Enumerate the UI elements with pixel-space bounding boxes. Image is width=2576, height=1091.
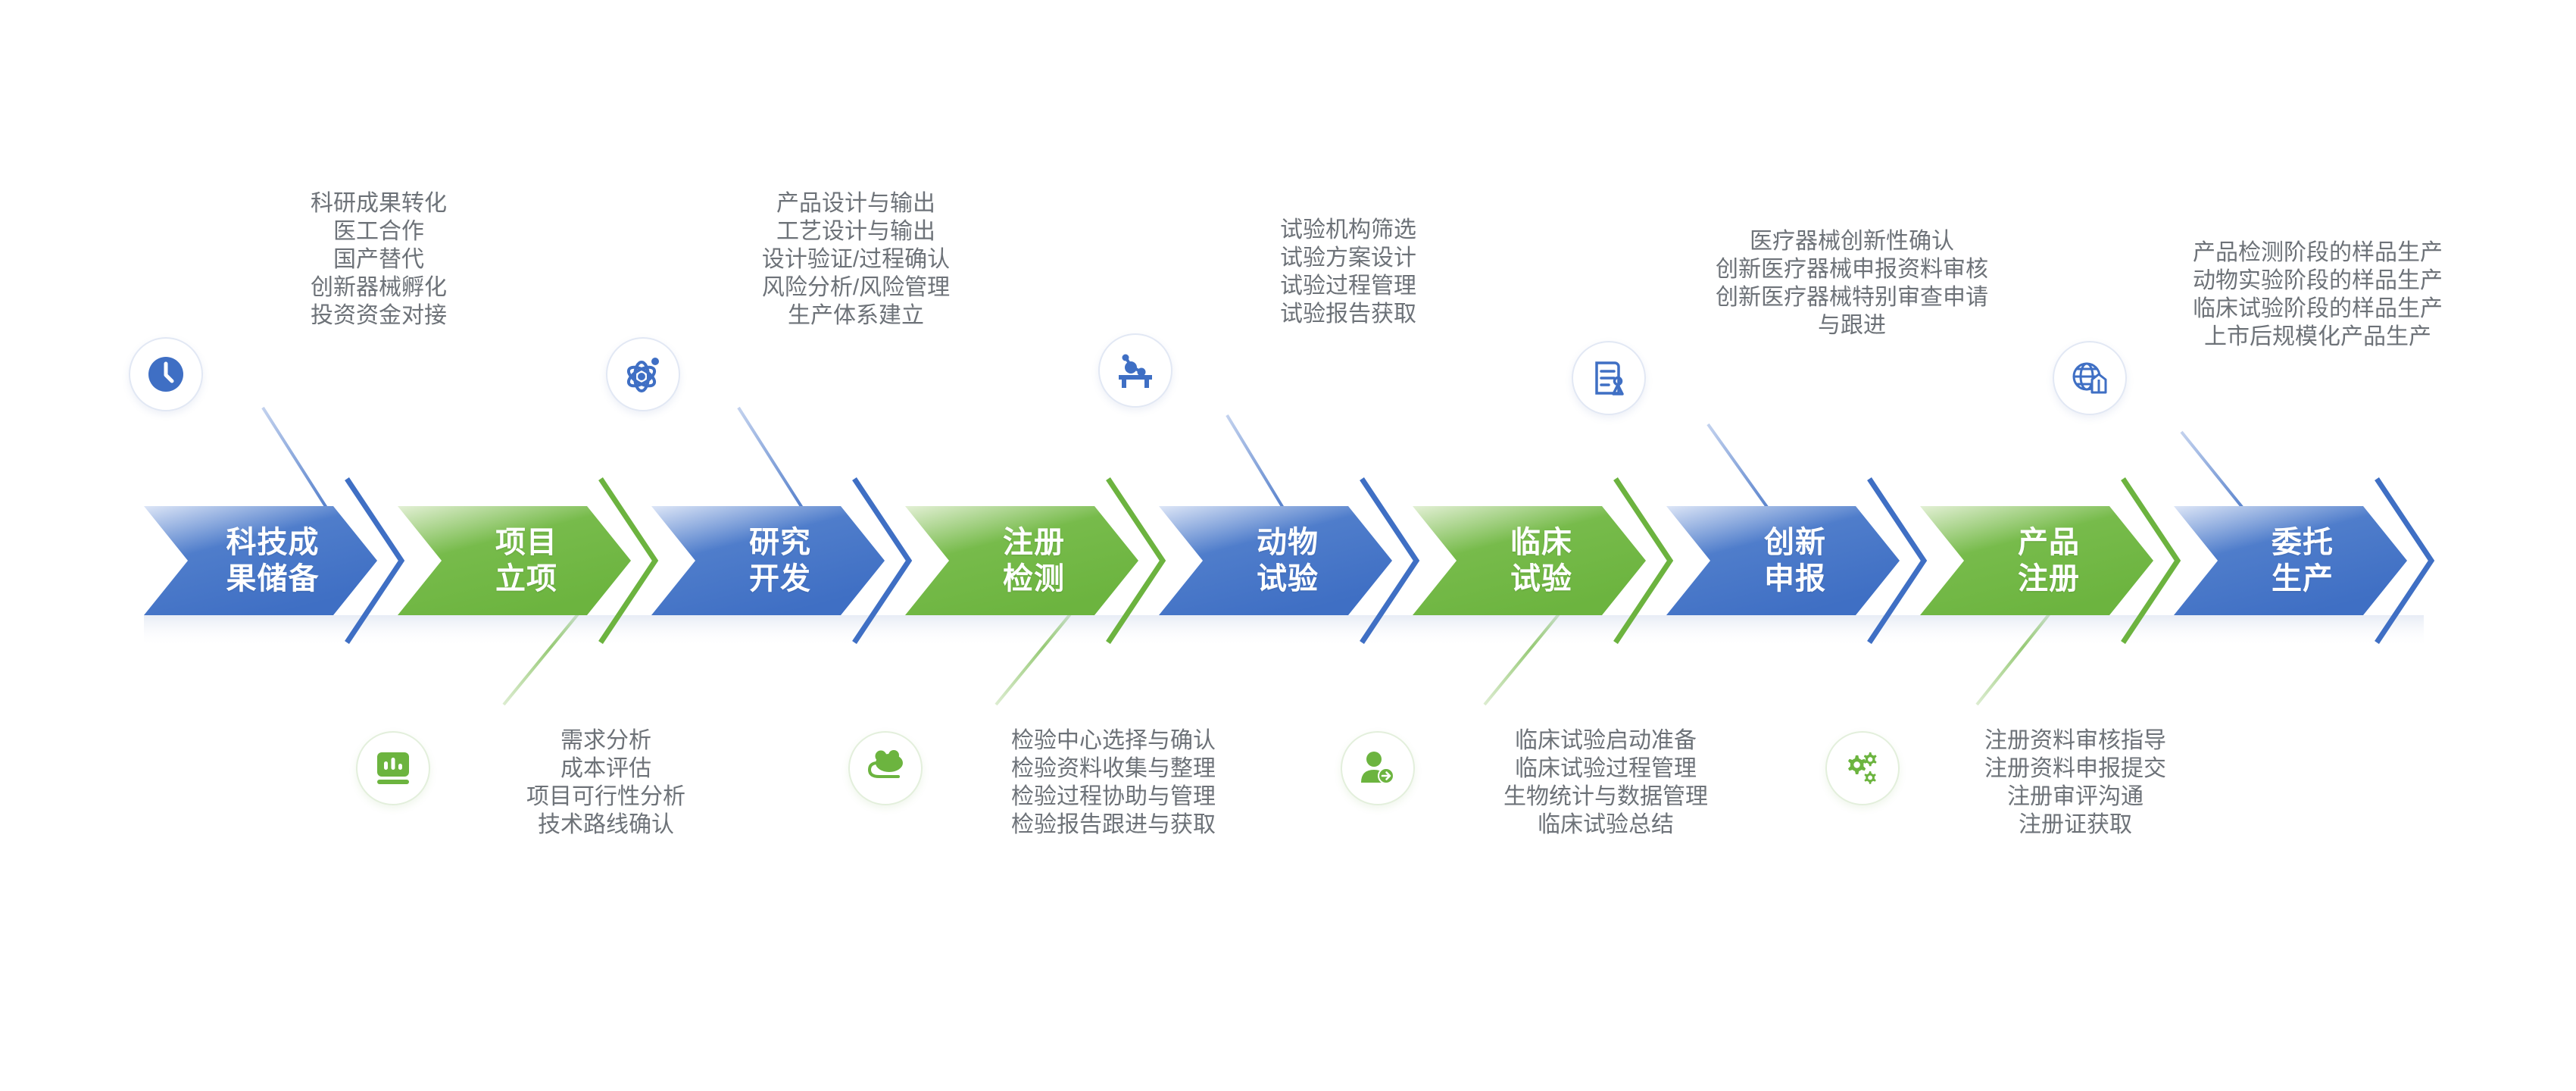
list-item: 临床试验过程管理 (1439, 755, 1772, 783)
list-item: 需求分析 (454, 727, 757, 755)
list-item: 项目可行性分析 (454, 783, 757, 811)
list-item: 试验方案设计 (1197, 244, 1500, 272)
bar-chart-icon-badge[interactable] (356, 731, 430, 805)
list-item: 工艺设计与输出 (704, 217, 1007, 245)
list-item: 试验过程管理 (1197, 272, 1500, 300)
atom-icon-badge[interactable] (606, 337, 680, 411)
list-item: 注册资料申报提交 (1924, 755, 2227, 783)
gears-icon (1842, 748, 1883, 789)
list-item: 检验过程协助与管理 (947, 783, 1280, 811)
list-item: 国产替代 (227, 245, 530, 274)
chevron-label-2[interactable]: 项目 立项 (447, 524, 606, 597)
list-item: 产品设计与输出 (704, 189, 1007, 217)
chevron-label-5[interactable]: 动物 试验 (1208, 524, 1367, 597)
list-item: 试验机构筛选 (1197, 216, 1500, 244)
chevron-label-8[interactable]: 产品 注册 (1969, 524, 2128, 597)
list-item: 生产体系建立 (704, 302, 1007, 330)
list-item: 注册证获取 (1924, 811, 2227, 839)
list-item: 医疗器械创新性确认 (1670, 227, 2034, 255)
list-item: 创新医疗器械特别审查申请 (1670, 283, 2034, 311)
list-item: 注册资料审核指导 (1924, 727, 2227, 755)
detail-list-bottom-3: 临床试验启动准备 临床试验过程管理 生物统计与数据管理 临床试验总结 (1439, 727, 1772, 839)
mouse-icon (864, 748, 907, 789)
clock-icon (145, 353, 187, 395)
list-item: 注册审评沟通 (1924, 783, 2227, 811)
chevron-label-4[interactable]: 注册 检测 (954, 524, 1113, 597)
list-item: 投资资金对接 (227, 302, 530, 330)
gears-icon-badge[interactable] (1825, 731, 1900, 805)
list-item: 医工合作 (227, 217, 530, 245)
list-item: 试验报告获取 (1197, 300, 1500, 328)
list-item: 产品检测阶段的样品生产 (2151, 239, 2484, 267)
list-item: 检验报告跟进与获取 (947, 811, 1280, 839)
detail-list-top-4: 医疗器械创新性确认 创新医疗器械申报资料审核 创新医疗器械特别审查申请 与跟进 (1670, 227, 2034, 339)
person-arrow-icon-badge[interactable] (1341, 731, 1415, 805)
lab-bench-icon-badge[interactable] (1098, 333, 1172, 408)
detail-list-top-1: 科研成果转化 医工合作 国产替代 创新器械孵化 投资资金对接 (227, 189, 530, 330)
detail-list-top-5: 产品检测阶段的样品生产 动物实验阶段的样品生产 临床试验阶段的样品生产 上市后规… (2151, 239, 2484, 351)
lab-bench-icon (1114, 349, 1157, 392)
clock-icon-badge[interactable] (129, 337, 203, 411)
list-item: 与跟进 (1670, 311, 2034, 339)
list-item: 动物实验阶段的样品生产 (2151, 267, 2484, 295)
list-item: 临床试验总结 (1439, 811, 1772, 839)
globe-factory-icon-badge[interactable] (2053, 341, 2127, 415)
list-item: 创新器械孵化 (227, 274, 530, 302)
list-item: 创新医疗器械申报资料审核 (1670, 255, 2034, 283)
chevron-label-3[interactable]: 研究 开发 (701, 524, 860, 597)
detail-list-top-2: 产品设计与输出 工艺设计与输出 设计验证/过程确认 风险分析/风险管理 生产体系… (704, 189, 1007, 330)
mouse-icon-badge[interactable] (848, 731, 923, 805)
atom-icon (622, 353, 664, 395)
list-item: 设计验证/过程确认 (704, 245, 1007, 274)
list-item: 科研成果转化 (227, 189, 530, 217)
list-item: 技术路线确认 (454, 811, 757, 839)
document-seal-icon (1588, 357, 1630, 399)
list-item: 生物统计与数据管理 (1439, 783, 1772, 811)
globe-factory-icon (2069, 357, 2111, 399)
chevron-label-9[interactable]: 委托 生产 (2223, 524, 2382, 597)
detail-list-bottom-2: 检验中心选择与确认 检验资料收集与整理 检验过程协助与管理 检验报告跟进与获取 (947, 727, 1280, 839)
flow-diagram-canvas: 科技成 果储备 项目 立项 研究 开发 注册 检测 动物 试验 临床 试验 创新… (0, 0, 2576, 1091)
detail-list-bottom-1: 需求分析 成本评估 项目可行性分析 技术路线确认 (454, 727, 757, 839)
chevron-label-6[interactable]: 临床 试验 (1462, 524, 1621, 597)
person-arrow-icon (1357, 748, 1398, 789)
list-item: 检验资料收集与整理 (947, 755, 1280, 783)
list-item: 临床试验阶段的样品生产 (2151, 295, 2484, 323)
list-item: 上市后规模化产品生产 (2151, 323, 2484, 351)
list-item: 风险分析/风险管理 (704, 274, 1007, 302)
detail-list-bottom-4: 注册资料审核指导 注册资料申报提交 注册审评沟通 注册证获取 (1924, 727, 2227, 839)
bar-chart-icon (373, 748, 414, 789)
document-seal-icon-badge[interactable] (1572, 341, 1646, 415)
list-item: 临床试验启动准备 (1439, 727, 1772, 755)
list-item: 检验中心选择与确认 (947, 727, 1280, 755)
detail-list-top-3: 试验机构筛选 试验方案设计 试验过程管理 试验报告获取 (1197, 216, 1500, 328)
list-item: 成本评估 (454, 755, 757, 783)
chevron-label-7[interactable]: 创新 申报 (1716, 524, 1875, 597)
chevron-label-1[interactable]: 科技成 果储备 (193, 524, 352, 597)
